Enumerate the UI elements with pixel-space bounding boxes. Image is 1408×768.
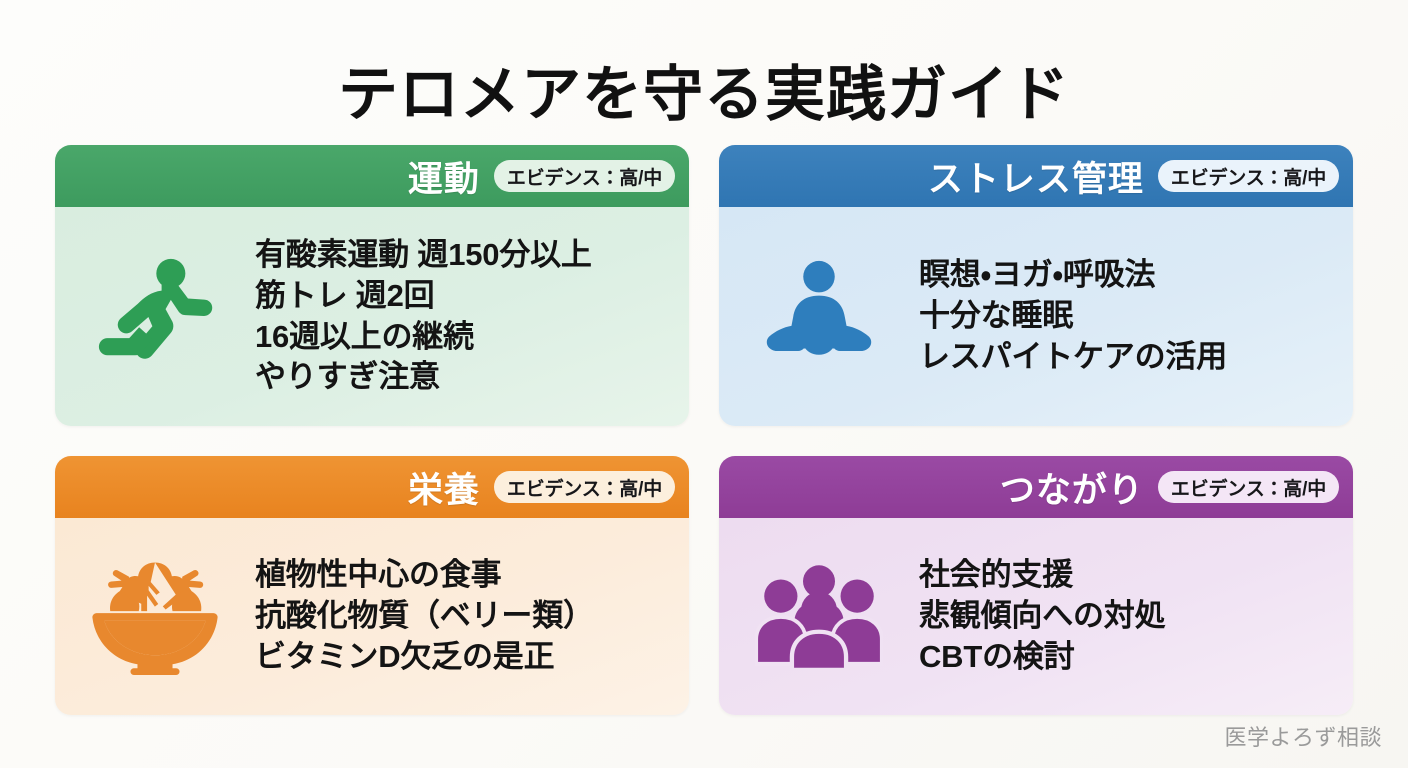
card-connection-evidence-badge: エビデンス：高/中 <box>1158 471 1339 503</box>
card-stress-lines: 瞑想・ヨガ・呼吸法 十分な睡眠 レスパイトケアの活用 <box>919 255 1353 378</box>
card-line: ビタミンD欠乏の是正 <box>255 637 679 678</box>
card-nutrition-header: 栄養 エビデンス：高/中 <box>55 456 689 518</box>
card-line: 有酸素運動 週150分以上 <box>255 235 679 276</box>
card-exercise-title: 運動 <box>408 151 480 202</box>
card-line: CBTの検討 <box>919 637 1343 678</box>
footer-credit: 医学よろず相談 <box>1224 720 1382 752</box>
card-connection: つながり エビデンス：高/中 <box>719 456 1353 715</box>
card-line: 社会的支援 <box>919 555 1343 596</box>
card-line: 抗酸化物質（ベリー類） <box>255 596 679 637</box>
card-line: レスパイトケアの活用 <box>919 337 1343 378</box>
card-stress-evidence-badge: エビデンス：高/中 <box>1158 160 1339 192</box>
card-connection-header: つながり エビデンス：高/中 <box>719 456 1353 518</box>
card-line: 悲観傾向への対処 <box>919 596 1343 637</box>
card-stress-body: 瞑想・ヨガ・呼吸法 十分な睡眠 レスパイトケアの活用 <box>719 207 1353 426</box>
card-connection-title: つながり <box>1000 462 1144 513</box>
card-line: 16週以上の継続 <box>255 317 679 358</box>
card-stress-header: ストレス管理 エビデンス：高/中 <box>719 145 1353 207</box>
card-exercise-body: 有酸素運動 週150分以上 筋トレ 週2回 16週以上の継続 やりすぎ注意 <box>55 207 689 426</box>
page-title: テロメアを守る実践ガイド <box>0 62 1408 128</box>
card-connection-lines: 社会的支援 悲観傾向への対処 CBTの検討 <box>919 555 1353 678</box>
card-line: 植物性中心の食事 <box>255 555 679 596</box>
card-exercise-lines: 有酸素運動 週150分以上 筋トレ 週2回 16週以上の継続 やりすぎ注意 <box>255 235 689 399</box>
card-nutrition-lines: 植物性中心の食事 抗酸化物質（ベリー類） ビタミンD欠乏の是正 <box>255 555 689 678</box>
card-line: 瞑想・ヨガ・呼吸法 <box>919 255 1343 296</box>
card-nutrition-title: 栄養 <box>408 462 480 513</box>
card-connection-body: 社会的支援 悲観傾向への対処 CBTの検討 <box>719 518 1353 715</box>
infographic-page: テロメアを守る実践ガイド 運動 エビデンス：高/中 有酸素運動 週150分以上 … <box>0 0 1408 768</box>
running-person-icon <box>55 251 255 383</box>
card-nutrition-evidence-badge: エビデンス：高/中 <box>494 471 675 503</box>
card-line: 筋トレ 週2回 <box>255 276 679 317</box>
people-group-icon <box>719 564 919 670</box>
salad-bowl-icon <box>55 556 255 678</box>
card-exercise: 運動 エビデンス：高/中 有酸素運動 週150分以上 筋トレ 週2回 16週以上… <box>55 145 689 426</box>
card-exercise-header: 運動 エビデンス：高/中 <box>55 145 689 207</box>
card-line: やりすぎ注意 <box>255 357 679 398</box>
meditation-person-icon <box>719 254 919 380</box>
card-line: 十分な睡眠 <box>919 296 1343 337</box>
card-nutrition: 栄養 エビデンス：高/中 <box>55 456 689 715</box>
card-stress-management: ストレス管理 エビデンス：高/中 瞑想・ヨガ・呼吸法 十分な睡眠 レ <box>719 145 1353 426</box>
card-nutrition-body: 植物性中心の食事 抗酸化物質（ベリー類） ビタミンD欠乏の是正 <box>55 518 689 715</box>
card-exercise-evidence-badge: エビデンス：高/中 <box>494 160 675 192</box>
card-stress-title: ストレス管理 <box>928 151 1144 202</box>
